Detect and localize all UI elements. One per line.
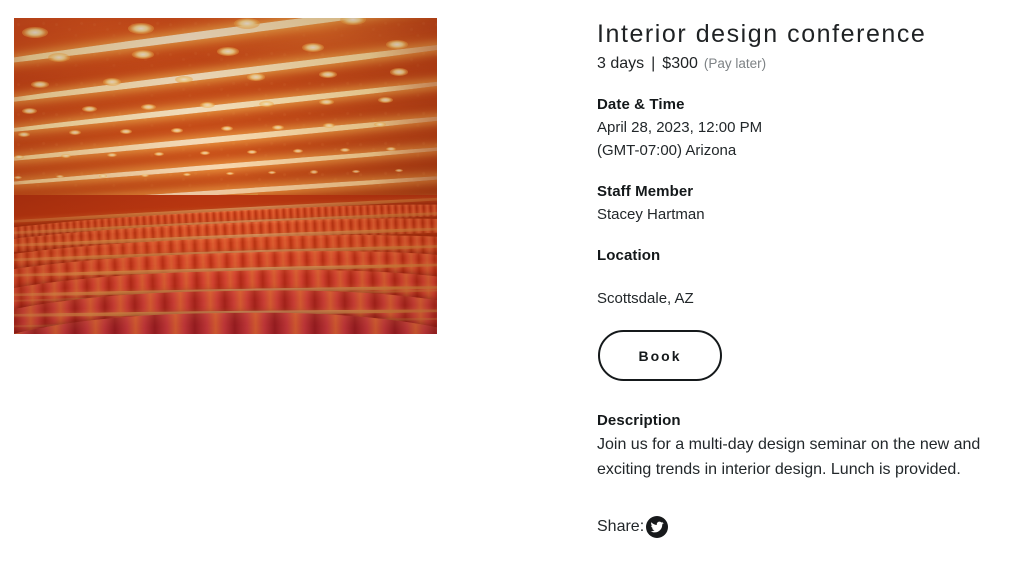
service-duration: 3 days [597, 55, 644, 72]
service-hero-image [14, 18, 437, 334]
downlight [132, 50, 154, 59]
meta-separator: | [644, 55, 662, 72]
section-description: Description Join us for a multi-day desi… [597, 411, 1007, 482]
section-date-time: Date & Time April 28, 2023, 12:00 PM (GM… [597, 95, 1007, 161]
downlight [22, 108, 37, 114]
auditorium-photo [14, 18, 437, 334]
date-time-heading: Date & Time [597, 95, 1007, 115]
downlight [171, 128, 183, 133]
downlight [48, 53, 70, 62]
downlight [247, 150, 257, 154]
downlight [247, 73, 265, 81]
share-label: Share: [597, 517, 644, 537]
service-detail-panel: Interior design conference 3 days|$300(P… [597, 0, 1007, 538]
twitter-icon[interactable] [646, 516, 668, 538]
book-button[interactable]: Book [598, 330, 722, 381]
downlight [340, 148, 350, 152]
downlight [217, 47, 239, 56]
staff-member-heading: Staff Member [597, 182, 1007, 202]
downlight [175, 76, 193, 84]
service-meta: 3 days|$300(Pay later) [597, 54, 1007, 74]
downlight [82, 106, 97, 112]
date-time-value: April 28, 2023, 12:00 PM [597, 117, 1007, 138]
downlight [386, 147, 396, 151]
downlight [310, 170, 318, 173]
downlight [395, 169, 403, 172]
service-title: Interior design conference [597, 0, 1007, 49]
payment-note: (Pay later) [698, 56, 766, 71]
staff-member-name: Stacey Hartman [597, 204, 1007, 225]
downlight [141, 174, 149, 177]
timezone-value: (GMT-07:00) Arizona [597, 140, 1007, 161]
section-location: Location Scottsdale, AZ [597, 246, 1007, 309]
downlight [226, 172, 234, 175]
downlight [31, 81, 49, 89]
downlight [272, 125, 284, 130]
section-staff-member: Staff Member Stacey Hartman [597, 182, 1007, 225]
downlight [259, 101, 274, 107]
description-heading: Description [597, 411, 1007, 431]
downlight [120, 129, 132, 134]
downlight [18, 132, 30, 137]
downlight [374, 122, 386, 127]
share-row: Share: [597, 516, 1007, 538]
location-value: Scottsdale, AZ [597, 288, 1007, 309]
downlight [99, 174, 107, 177]
downlight [319, 71, 337, 79]
downlight [183, 173, 191, 176]
downlight [390, 68, 408, 76]
downlight [319, 99, 334, 105]
description-body: Join us for a multi-day design seminar o… [597, 432, 1001, 482]
downlight [128, 23, 154, 34]
service-price: $300 [662, 55, 698, 72]
location-heading: Location [597, 246, 1007, 266]
downlight [352, 170, 360, 173]
downlight [378, 97, 393, 103]
downlight [103, 78, 121, 86]
